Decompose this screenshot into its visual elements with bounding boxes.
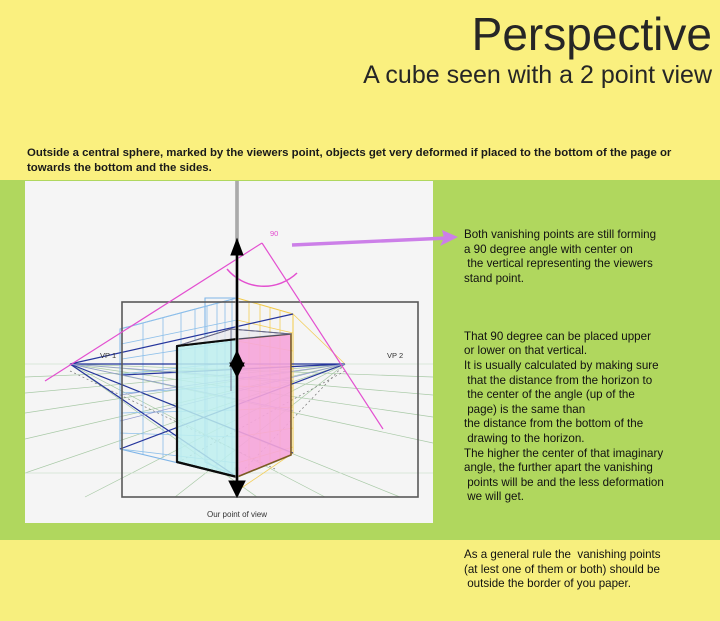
page-title: Perspective <box>472 8 712 60</box>
intro-paragraph: Outside a central sphere, marked by the … <box>27 146 697 176</box>
vp2-label: VP 2 <box>387 351 403 360</box>
cube-right-face <box>237 334 291 477</box>
cube <box>177 329 291 477</box>
vp1-label: VP 1 <box>100 351 116 360</box>
note-paragraph-3: As a general rule the vanishing points (… <box>464 548 716 592</box>
viewpoint-label: Our point of view <box>207 510 267 519</box>
slide-root: Perspective A cube seen with a 2 point v… <box>0 0 720 540</box>
slide-header: Perspective A cube seen with a 2 point v… <box>0 0 720 180</box>
page-subtitle: A cube seen with a 2 point view <box>363 60 712 90</box>
note-paragraph-2: That 90 degree can be placed upper or lo… <box>464 330 716 505</box>
angle-label: 90 <box>270 229 278 238</box>
notes-panel: Both vanishing points are still forming … <box>464 199 716 621</box>
cube-left-face <box>177 339 237 477</box>
note-paragraph-1: Both vanishing points are still forming … <box>464 228 716 286</box>
callout-arrow <box>280 225 465 265</box>
